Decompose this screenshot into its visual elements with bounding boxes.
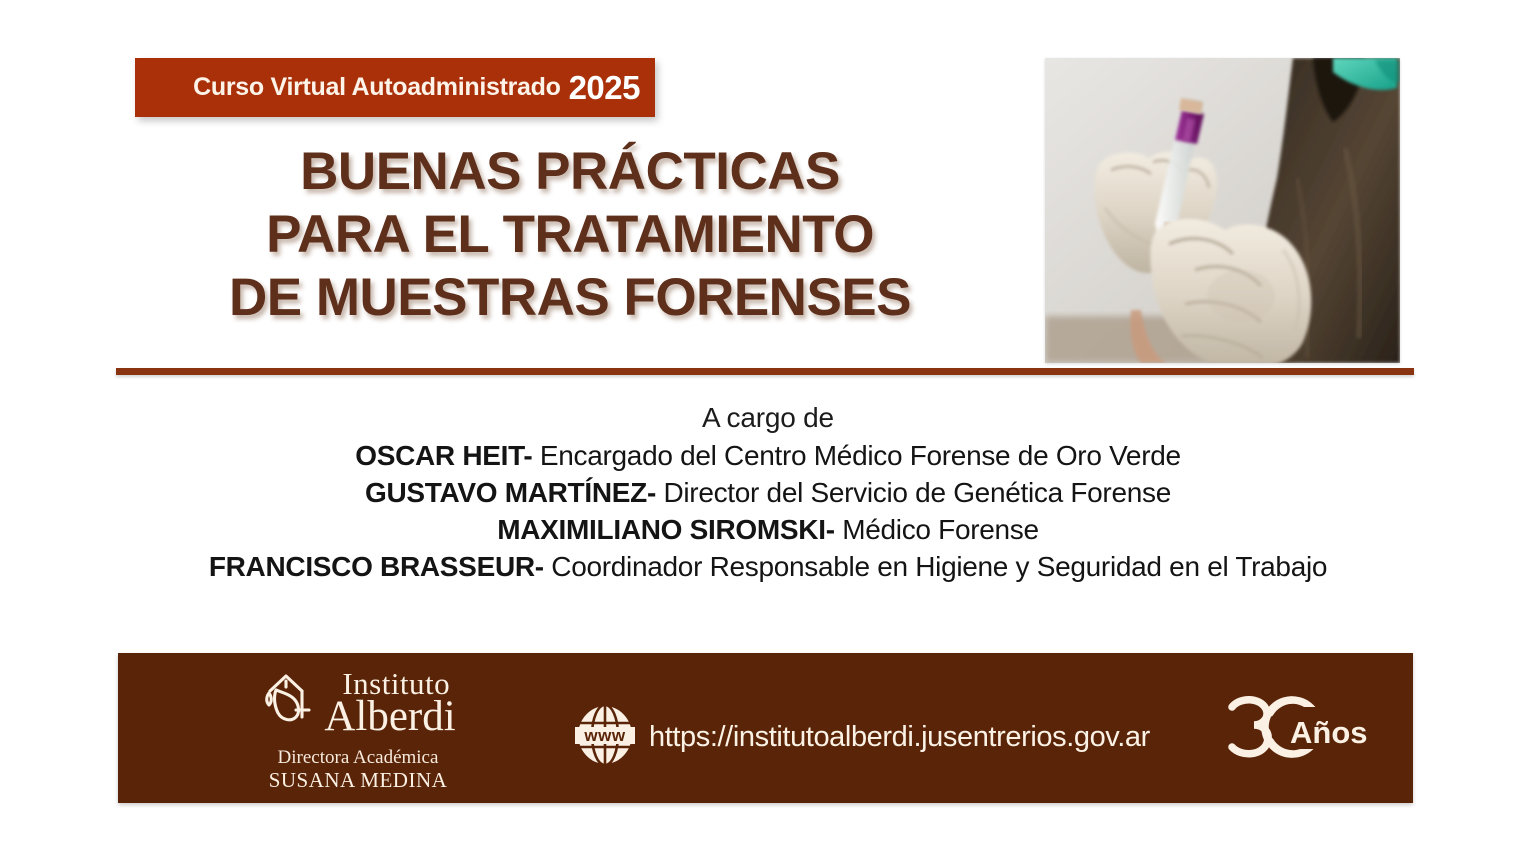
www-globe-icon: www: [573, 703, 637, 772]
forensic-sample-photo: [1045, 58, 1400, 363]
director-name: SUSANA MEDINA: [213, 769, 503, 792]
page-title-line-2: PARA EL TRATAMIENTO: [120, 203, 1020, 266]
anniversary-logo: Años 30: [1218, 691, 1388, 766]
alberdi-emblem-icon: [260, 667, 322, 734]
presenter-name: FRANCISCO BRASSEUR: [209, 551, 535, 582]
institute-logo-line-2: Alberdi: [324, 695, 455, 738]
page-title-line-1: BUENAS PRÁCTICAS: [120, 140, 1020, 203]
website-url-text[interactable]: https://institutoalberdi.jusentrerios.go…: [649, 721, 1150, 754]
presenter-row: FRANCISCO BRASSEUR- Coordinador Responsa…: [118, 548, 1418, 585]
www-label: www: [583, 726, 625, 745]
website-link[interactable]: www https://institutoalberdi.jusentrerio…: [573, 703, 1150, 772]
presenter-separator: -: [826, 514, 835, 545]
section-divider: [116, 368, 1414, 375]
page-title-line-3: DE MUESTRAS FORENSES: [120, 266, 1020, 329]
presenter-separator: -: [535, 551, 544, 582]
presenter-name: GUSTAVO MARTÍNEZ: [365, 477, 647, 508]
presenter-name: OSCAR HEIT: [355, 440, 523, 471]
presenter-row: GUSTAVO MARTÍNEZ- Director del Servicio …: [118, 474, 1418, 511]
footer-bar: Instituto Alberdi Directora Académica SU…: [118, 653, 1413, 803]
presenter-separator: -: [523, 440, 532, 471]
presenter-row: MAXIMILIANO SIROMSKI- Médico Forense: [118, 511, 1418, 548]
presenters-section: A cargo de OSCAR HEIT- Encargado del Cen…: [118, 398, 1418, 585]
presenter-role: Encargado del Centro Médico Forense de O…: [540, 440, 1181, 471]
course-badge-label: Curso Virtual Autoadministrado: [193, 73, 560, 102]
anniversary-word: Años: [1290, 715, 1368, 750]
course-badge-year: 2025: [569, 69, 640, 107]
presenter-row: OSCAR HEIT- Encargado del Centro Médico …: [118, 437, 1418, 474]
presenter-role: Coordinador Responsable en Higiene y Seg…: [551, 551, 1327, 582]
forensic-sample-photo-graphic: [1045, 58, 1400, 363]
institute-logo: Instituto Alberdi Directora Académica SU…: [213, 667, 503, 792]
course-badge: Curso Virtual Autoadministrado 2025: [135, 58, 655, 117]
presenter-role: Director del Servicio de Genética Forens…: [663, 477, 1171, 508]
presenter-separator: -: [647, 477, 656, 508]
presenter-name: MAXIMILIANO SIROMSKI: [497, 514, 825, 545]
presenter-role: Médico Forense: [842, 514, 1039, 545]
page-title: BUENAS PRÁCTICAS PARA EL TRATAMIENTO DE …: [120, 140, 1020, 329]
presenters-heading: A cargo de: [118, 398, 1418, 437]
director-label: Directora Académica: [213, 747, 503, 769]
